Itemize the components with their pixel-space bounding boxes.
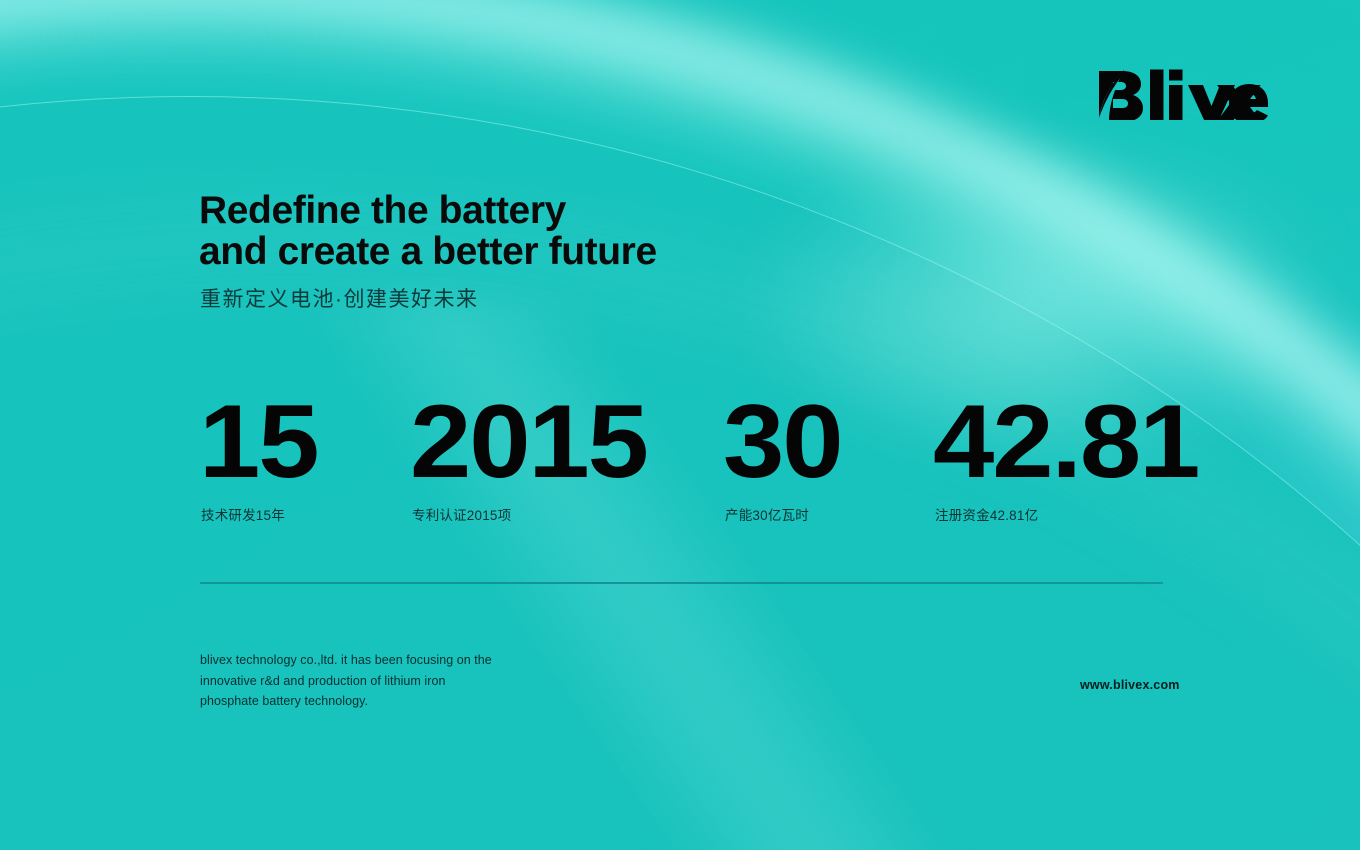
page-title: Redefine the battery and create a better…	[199, 190, 657, 272]
stat-caption: 产能30亿瓦时	[725, 504, 809, 524]
stats-row: 15 技术研发15年 2015 专利认证2015项 30 产能30亿瓦时 42.…	[199, 392, 1167, 532]
stat-caption: 专利认证2015项	[412, 504, 511, 524]
stat-item: 42.81 注册资金42.81亿	[933, 392, 1183, 492]
stat-value: 30	[723, 392, 841, 492]
stat-caption: 注册资金42.81亿	[935, 504, 1038, 524]
company-description: blivex technology co.,ltd. it has been f…	[200, 650, 492, 712]
stat-value: 2015	[410, 392, 647, 492]
stat-item: 15 技术研发15年	[199, 392, 311, 492]
stat-value: 15	[199, 392, 317, 492]
blivex-wordmark-icon	[1096, 68, 1268, 120]
horizontal-divider	[200, 582, 1163, 584]
stat-item: 30 产能30亿瓦时	[723, 392, 835, 492]
poster-content: Redefine the battery and create a better…	[0, 0, 1360, 850]
poster-canvas: Redefine the battery and create a better…	[0, 0, 1360, 850]
website-url[interactable]: www.blivex.com	[1080, 678, 1180, 692]
stat-item: 2015 专利认证2015项	[410, 392, 633, 492]
stat-caption: 技术研发15年	[201, 504, 285, 524]
brand-logo[interactable]	[1096, 64, 1268, 124]
stat-value: 42.81	[933, 392, 1198, 492]
page-subtitle: 重新定义电池·创建美好未来	[200, 283, 479, 313]
